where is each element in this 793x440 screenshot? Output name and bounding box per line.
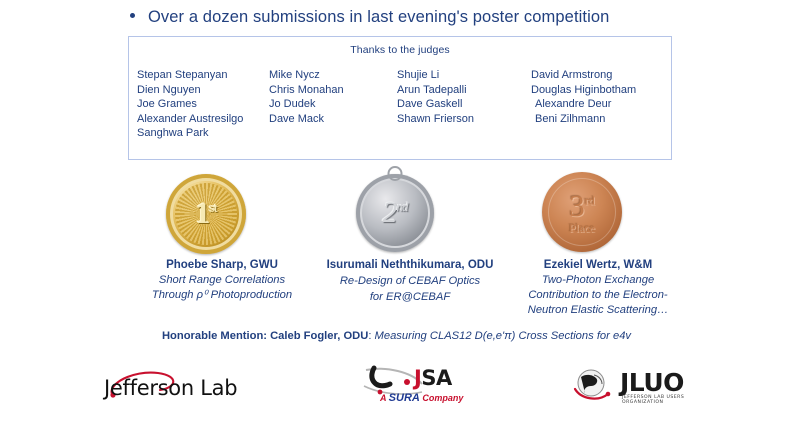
jsa-logo: JSA A SURA Company bbox=[360, 364, 490, 414]
jluo-subtitle: JEFFERSON LAB USERS ORGANIZATION bbox=[622, 395, 718, 405]
honorable-mention: Honorable Mention: Caleb Fogler, ODU: Me… bbox=[0, 330, 793, 342]
jefferson-lab-wordmark: Jefferson Lab bbox=[104, 376, 237, 400]
winner-third-place: Ezekiel Wertz, W&M Two-Photon Exchange C… bbox=[504, 258, 692, 317]
judge-name: Chris Monahan bbox=[269, 83, 397, 98]
jefferson-lab-logo: Jefferson Lab bbox=[104, 368, 294, 410]
jsa-tagline-company: Company bbox=[420, 393, 464, 403]
honorable-mention-title: Measuring CLAS12 D(e,e'π) Cross Sections… bbox=[375, 330, 631, 342]
judge-name: Dave Mack bbox=[269, 112, 397, 127]
winner-project-line: Contribution to the Electron- bbox=[504, 288, 692, 302]
jsa-tagline: A SURA Company bbox=[380, 392, 463, 404]
jsa-wordmark: JSA bbox=[414, 366, 452, 390]
gold-medal-label: 1st bbox=[195, 197, 216, 231]
gold-medal-face: 1st bbox=[166, 174, 246, 254]
honorable-mention-label: Honorable Mention: Caleb Fogler, ODU bbox=[162, 330, 368, 342]
jluo-globe-icon bbox=[572, 367, 614, 405]
judges-column-2: Mike Nycz Chris Monahan Jo Dudek Dave Ma… bbox=[269, 68, 397, 141]
gold-medal: 1st bbox=[166, 174, 256, 264]
judge-name: Dien Nguyen bbox=[137, 83, 269, 98]
winner-name: Isurumali Neththikumara, ODU bbox=[316, 258, 504, 272]
winner-first-place: Phoebe Sharp, GWU Short Range Correlatio… bbox=[128, 258, 316, 317]
bronze-medal-place-text: Place bbox=[569, 222, 595, 234]
judge-name: David Armstrong bbox=[531, 68, 671, 83]
judge-name: Shujie Li bbox=[397, 68, 531, 83]
judges-column-3: Shujie Li Arun Tadepalli Dave Gaskell Sh… bbox=[397, 68, 531, 141]
judge-name: Arun Tadepalli bbox=[397, 83, 531, 98]
judge-name: Joe Grames bbox=[137, 97, 269, 112]
judge-name: Douglas Higinbotham bbox=[531, 83, 671, 98]
jsa-tagline-sura: SURA bbox=[389, 392, 420, 404]
winner-project-line: Two-Photon Exchange bbox=[504, 273, 692, 287]
judge-name: Alexander Austresilgo bbox=[137, 112, 269, 127]
logo-bar: Jefferson Lab JSA A SURA Company JLUO bbox=[0, 360, 793, 420]
medals-row: 1st 2nd 3rd Place bbox=[128, 172, 688, 262]
bronze-medal-label: 3rd Place bbox=[569, 190, 595, 234]
judge-name: Jo Dudek bbox=[269, 97, 397, 112]
presentation-slide: Over a dozen submissions in last evening… bbox=[0, 0, 793, 440]
winner-project-line: Re-Design of CEBAF Optics bbox=[316, 274, 504, 288]
bullet-point-icon bbox=[130, 13, 135, 18]
winner-second-place: Isurumali Neththikumara, ODU Re-Design o… bbox=[316, 258, 504, 317]
winner-name: Phoebe Sharp, GWU bbox=[128, 258, 316, 272]
bronze-medal: 3rd Place bbox=[542, 172, 632, 262]
winner-project-line: for ER@CEBAF bbox=[316, 290, 504, 304]
jsa-letters-sa: SA bbox=[421, 366, 451, 390]
judges-columns: Stepan Stepanyan Dien Nguyen Joe Grames … bbox=[129, 68, 671, 141]
judges-column-1: Stepan Stepanyan Dien Nguyen Joe Grames … bbox=[137, 68, 269, 141]
silver-medal-label: 2nd bbox=[383, 196, 408, 230]
judges-panel: Thanks to the judges Stepan Stepanyan Di… bbox=[128, 36, 672, 160]
judges-column-4: David Armstrong Douglas Higinbotham Alex… bbox=[531, 68, 671, 141]
judge-name: Shawn Frierson bbox=[397, 112, 531, 127]
winner-project-line: Short Range Correlations bbox=[128, 273, 316, 287]
winner-project-line: Through ρ⁰ Photoproduction bbox=[128, 288, 316, 302]
jluo-logo: JLUO JEFFERSON LAB USERS ORGANIZATION bbox=[568, 366, 718, 411]
jsa-tagline-a: A bbox=[380, 393, 389, 403]
judge-name: Beni Zilhmann bbox=[531, 112, 671, 127]
winner-name: Ezekiel Wertz, W&M bbox=[504, 258, 692, 272]
judge-name: Sanghwa Park bbox=[137, 126, 269, 141]
slide-title-row: Over a dozen submissions in last evening… bbox=[130, 8, 609, 27]
winners-row: Phoebe Sharp, GWU Short Range Correlatio… bbox=[128, 258, 694, 317]
judge-name: Alexandre Deur bbox=[531, 97, 671, 112]
winner-project-line: Neutron Elastic Scattering… bbox=[504, 303, 692, 317]
silver-medal: 2nd bbox=[356, 174, 446, 264]
page-title: Over a dozen submissions in last evening… bbox=[148, 8, 609, 27]
judge-name: Stepan Stepanyan bbox=[137, 68, 269, 83]
judge-name: Mike Nycz bbox=[269, 68, 397, 83]
silver-medal-face: 2nd bbox=[356, 174, 434, 252]
judge-name: Dave Gaskell bbox=[397, 97, 531, 112]
medal-ring-icon bbox=[388, 166, 403, 181]
bronze-medal-face: 3rd Place bbox=[542, 172, 622, 252]
jluo-wordmark: JLUO bbox=[620, 368, 684, 397]
judges-heading: Thanks to the judges bbox=[129, 44, 671, 56]
